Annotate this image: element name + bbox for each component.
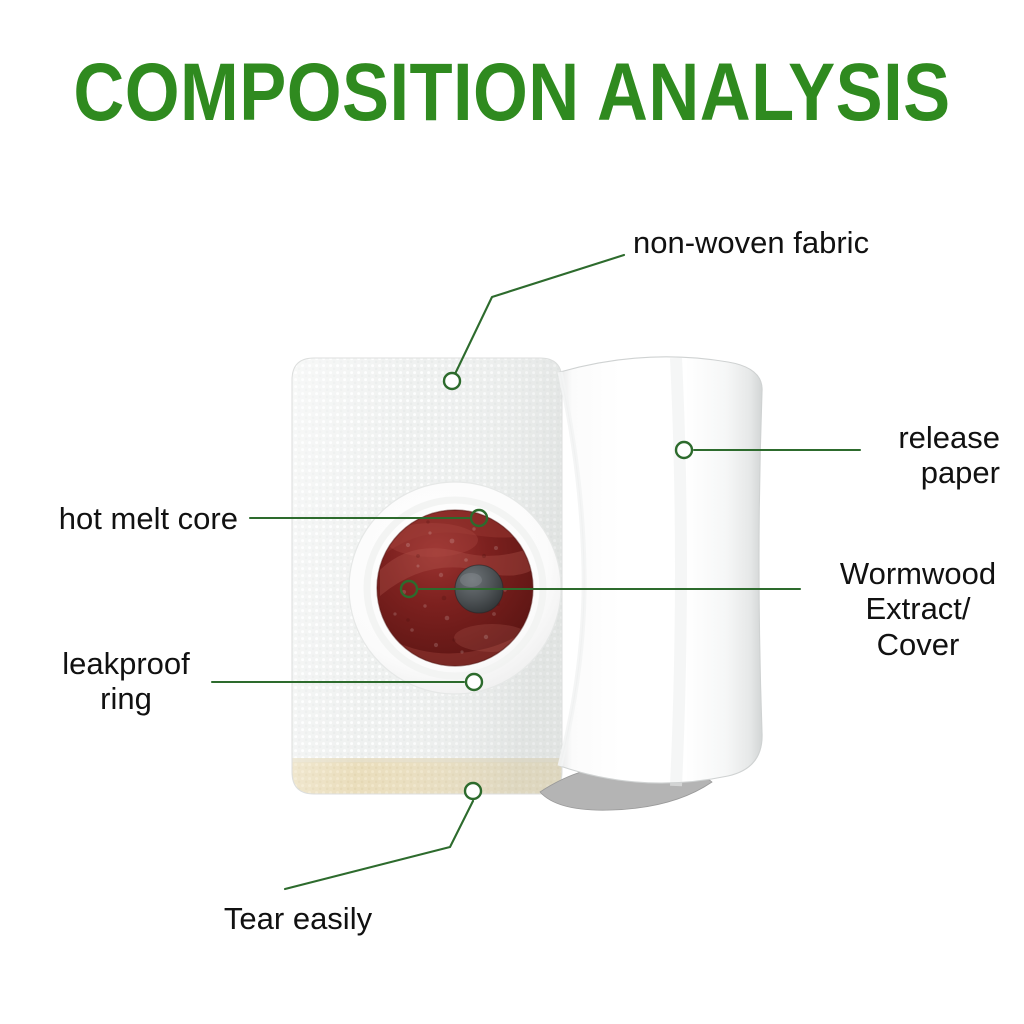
composition-analysis-infographic: COMPOSITION ANALYSIS bbox=[0, 0, 1024, 1024]
callout-label-hot-melt-core: hot melt core bbox=[0, 501, 238, 536]
callout-label-wormwood-extract-cover: Wormwood Extract/ Cover bbox=[812, 556, 1024, 662]
callout-label-tear-easily: Tear easily bbox=[198, 901, 398, 936]
cover-dot-part bbox=[455, 565, 503, 613]
callout-label-release-paper: release paper bbox=[700, 420, 1000, 491]
callout-label-leakproof-ring: leakproof ring bbox=[14, 646, 238, 717]
callout-label-non-woven-fabric: non-woven fabric bbox=[633, 225, 963, 260]
